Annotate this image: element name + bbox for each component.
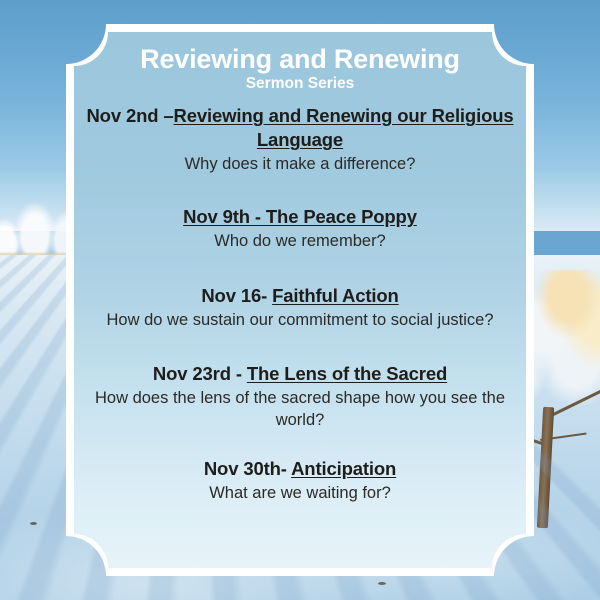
sermon-heading: Nov 30th- Anticipation — [86, 457, 514, 481]
sermon-heading: Nov 16- Faithful Action — [86, 284, 514, 308]
content-card: Reviewing and Renewing Sermon Series Nov… — [66, 24, 534, 576]
sermon-question: How do we sustain our commitment to soci… — [86, 309, 514, 331]
sermon-entry: Nov 30th- Anticipation What are we waiti… — [86, 457, 514, 504]
snow-debris-speck — [378, 582, 386, 585]
sermon-topic: Nov 9th - The Peace Poppy — [183, 206, 417, 227]
sermon-question: What are we waiting for? — [86, 482, 514, 504]
page-subtitle: Sermon Series — [86, 75, 514, 93]
snow-debris-speck — [30, 522, 37, 525]
sermon-date: Nov 2nd – — [86, 105, 173, 126]
sermon-topic: Reviewing and Renewing our Religious Lan… — [174, 105, 514, 150]
sermon-date: Nov 30th- — [204, 458, 291, 479]
sermon-heading: Nov 23rd - The Lens of the Sacred — [86, 362, 514, 386]
sermon-heading: Nov 9th - The Peace Poppy — [86, 205, 514, 229]
card-content: Reviewing and Renewing Sermon Series Nov… — [66, 24, 534, 576]
sermon-entry: Nov 2nd –Reviewing and Renewing our Reli… — [86, 104, 514, 175]
sermon-question: How does the lens of the sacred shape ho… — [86, 387, 514, 431]
sermon-question: Who do we remember? — [86, 230, 514, 252]
sermon-entry: Nov 23rd - The Lens of the Sacred How do… — [86, 362, 514, 431]
sermon-date: Nov 16- — [201, 285, 272, 306]
sermon-question: Why does it make a difference? — [86, 153, 514, 175]
sermon-topic: Faithful Action — [272, 285, 399, 306]
sermon-topic: The Lens of the Sacred — [247, 363, 447, 384]
sermon-series-poster: Reviewing and Renewing Sermon Series Nov… — [0, 0, 600, 600]
sermon-entry: Nov 9th - The Peace Poppy Who do we reme… — [86, 205, 514, 252]
sermon-date: Nov 23rd - — [153, 363, 247, 384]
sermon-heading: Nov 2nd –Reviewing and Renewing our Reli… — [86, 104, 514, 152]
sermon-topic: Anticipation — [291, 458, 396, 479]
sermon-entry-list: Nov 2nd –Reviewing and Renewing our Reli… — [86, 104, 514, 504]
sermon-entry: Nov 16- Faithful Action How do we sustai… — [86, 284, 514, 331]
page-title: Reviewing and Renewing — [86, 44, 514, 74]
